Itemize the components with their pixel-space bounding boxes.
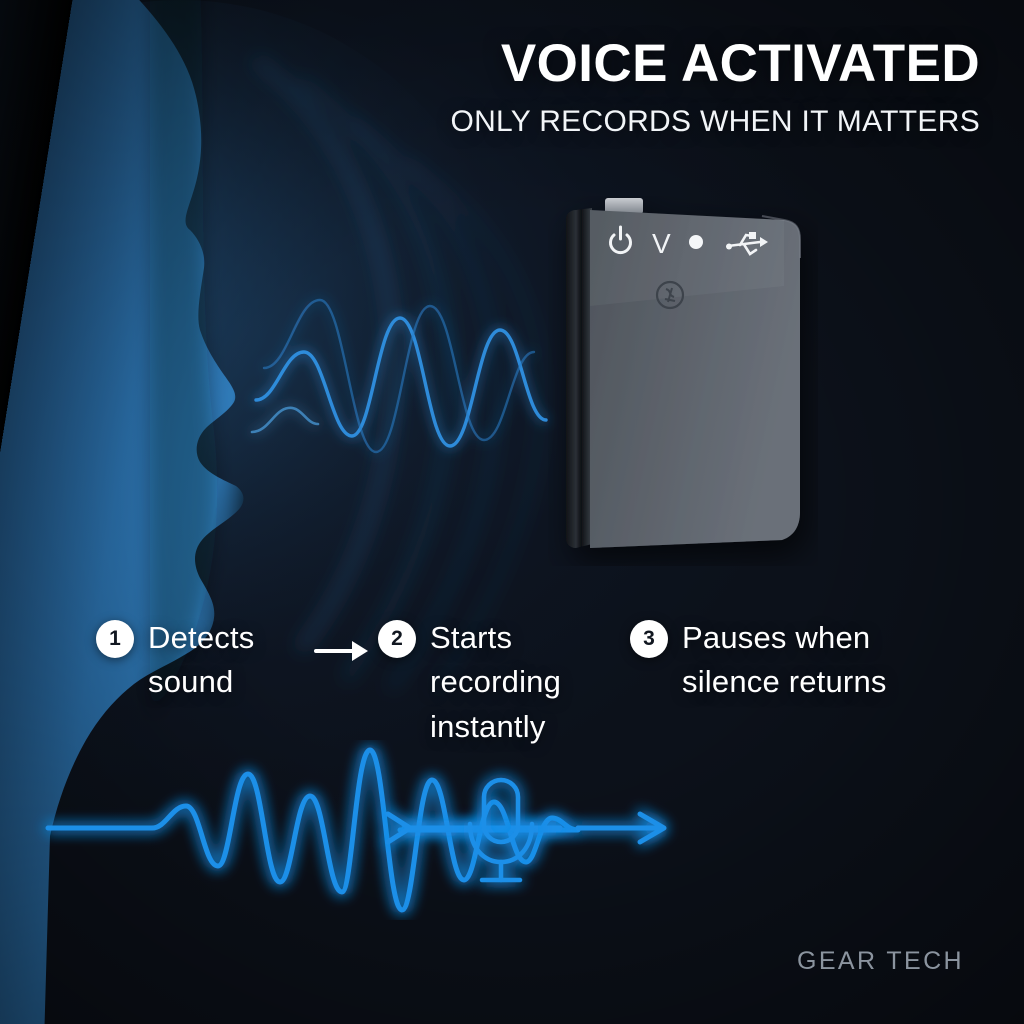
step-label-3-line-2: silence returns: [682, 660, 887, 704]
step-label-1-line-1: Detects: [148, 616, 255, 660]
step-label-1: Detects sound: [148, 616, 255, 705]
step-item-2: 2 Starts recording instantly: [378, 616, 596, 749]
step-label-3-line-1: Pauses when: [682, 616, 887, 660]
step-badge-3: 3: [630, 620, 668, 658]
step-label-3: Pauses when silence returns: [682, 616, 887, 705]
signal-flow-graphic: [0, 740, 1024, 920]
led-indicator: [689, 235, 703, 249]
step-label-2-line-2: recording: [430, 660, 561, 704]
device-left-spine: [566, 208, 592, 548]
device-image: V: [548, 196, 818, 566]
page-title: VOICE ACTIVATED: [360, 36, 980, 91]
voice-activated-recorder: V: [548, 196, 818, 566]
step-flow-arrow-1: [306, 616, 378, 664]
infographic-canvas: VOICE ACTIVATED ONLY RECORDS WHEN IT MAT…: [0, 0, 1024, 1024]
step-label-2-line-1: Starts: [430, 616, 561, 660]
brand-wordmark: GEAR TECH: [797, 947, 964, 976]
voice-mode-icon: V: [652, 228, 671, 259]
step-badge-1: 1: [96, 620, 134, 658]
step-label-2: Starts recording instantly: [430, 616, 561, 749]
steps-row: 1 Detects sound 2 Starts recording insta…: [96, 616, 986, 749]
step-badge-2: 2: [378, 620, 416, 658]
arrow-right-icon: [314, 638, 370, 664]
headline-block: VOICE ACTIVATED ONLY RECORDS WHEN IT MAT…: [360, 36, 980, 139]
flow-arrow-to-silence: [578, 814, 664, 842]
signal-flow-diagram: [0, 740, 1024, 920]
step-item-3: 3 Pauses when silence returns: [630, 616, 930, 705]
step-item-1: 1 Detects sound: [96, 616, 306, 705]
page-subtitle: ONLY RECORDS WHEN IT MATTERS: [360, 105, 980, 139]
step-label-1-line-2: sound: [148, 660, 255, 704]
